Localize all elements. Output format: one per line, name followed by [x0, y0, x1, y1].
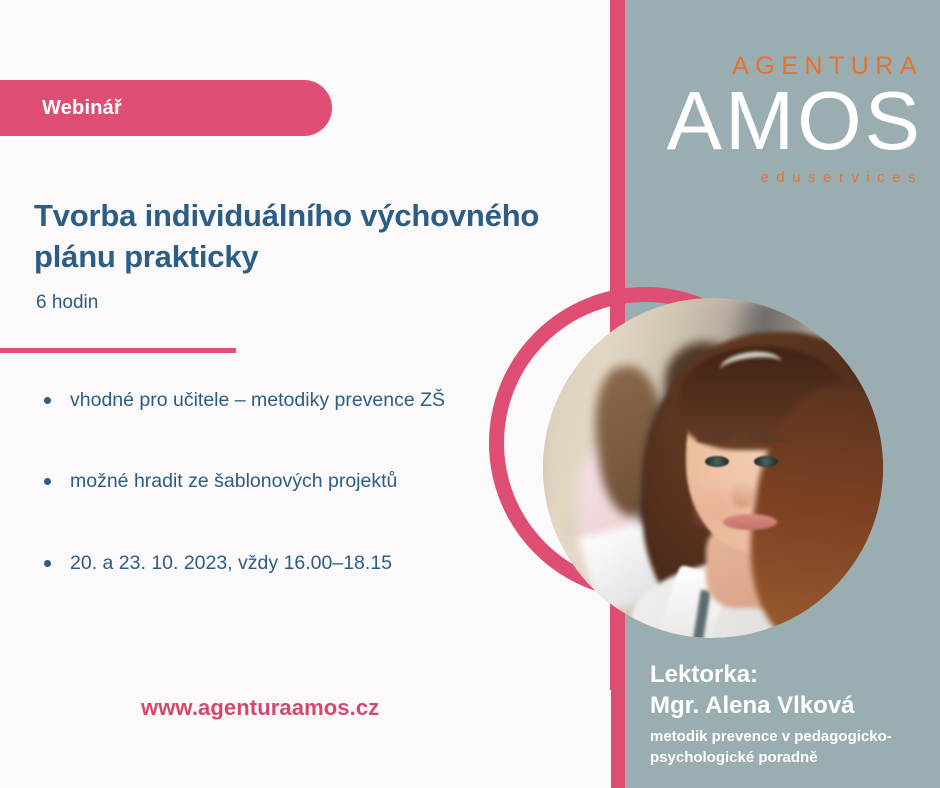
- lecturer-block: Lektorka: Mgr. Alena Vlková metodik prev…: [650, 660, 930, 768]
- pink-divider-rule: [0, 348, 236, 353]
- logo-eduservices-tagline: eduservices: [645, 169, 925, 186]
- lecturer-role: metodik prevence v pedagogicko-psycholog…: [650, 727, 930, 768]
- list-item: možné hradit ze šablonových projektů: [40, 467, 480, 496]
- list-item: 20. a 23. 10. 2023, vždy 16.00–18.15: [40, 549, 480, 578]
- portrait-artwork: [543, 298, 883, 638]
- photo-nose: [732, 482, 754, 508]
- webinar-promo-poster: Webinář Tvorba individuálního výchovného…: [0, 0, 940, 788]
- logo-amos-word: AMOS: [645, 83, 925, 159]
- lecturer-name: Mgr. Alena Vlková: [650, 691, 930, 722]
- page-title: Tvorba individuálního výchovného plánu p…: [34, 196, 574, 278]
- course-details-list: vhodné pro učitele – metodiky prevence Z…: [40, 386, 480, 630]
- stripe-curve-mask: [555, 690, 611, 788]
- photo-eye-left: [705, 456, 729, 467]
- photo-lips: [723, 514, 777, 530]
- webinar-badge-label: Webinář: [42, 97, 122, 120]
- website-url[interactable]: www.agenturaamos.cz: [141, 695, 379, 721]
- course-duration: 6 hodin: [36, 292, 98, 314]
- agentura-amos-logo: AGENTURA AMOS eduservices: [645, 52, 925, 186]
- lecturer-portrait-photo: [543, 298, 883, 638]
- lecturer-label: Lektorka:: [650, 660, 930, 691]
- photo-eye-right: [754, 456, 778, 467]
- webinar-badge: Webinář: [0, 80, 332, 136]
- list-item: vhodné pro učitele – metodiky prevence Z…: [40, 386, 480, 415]
